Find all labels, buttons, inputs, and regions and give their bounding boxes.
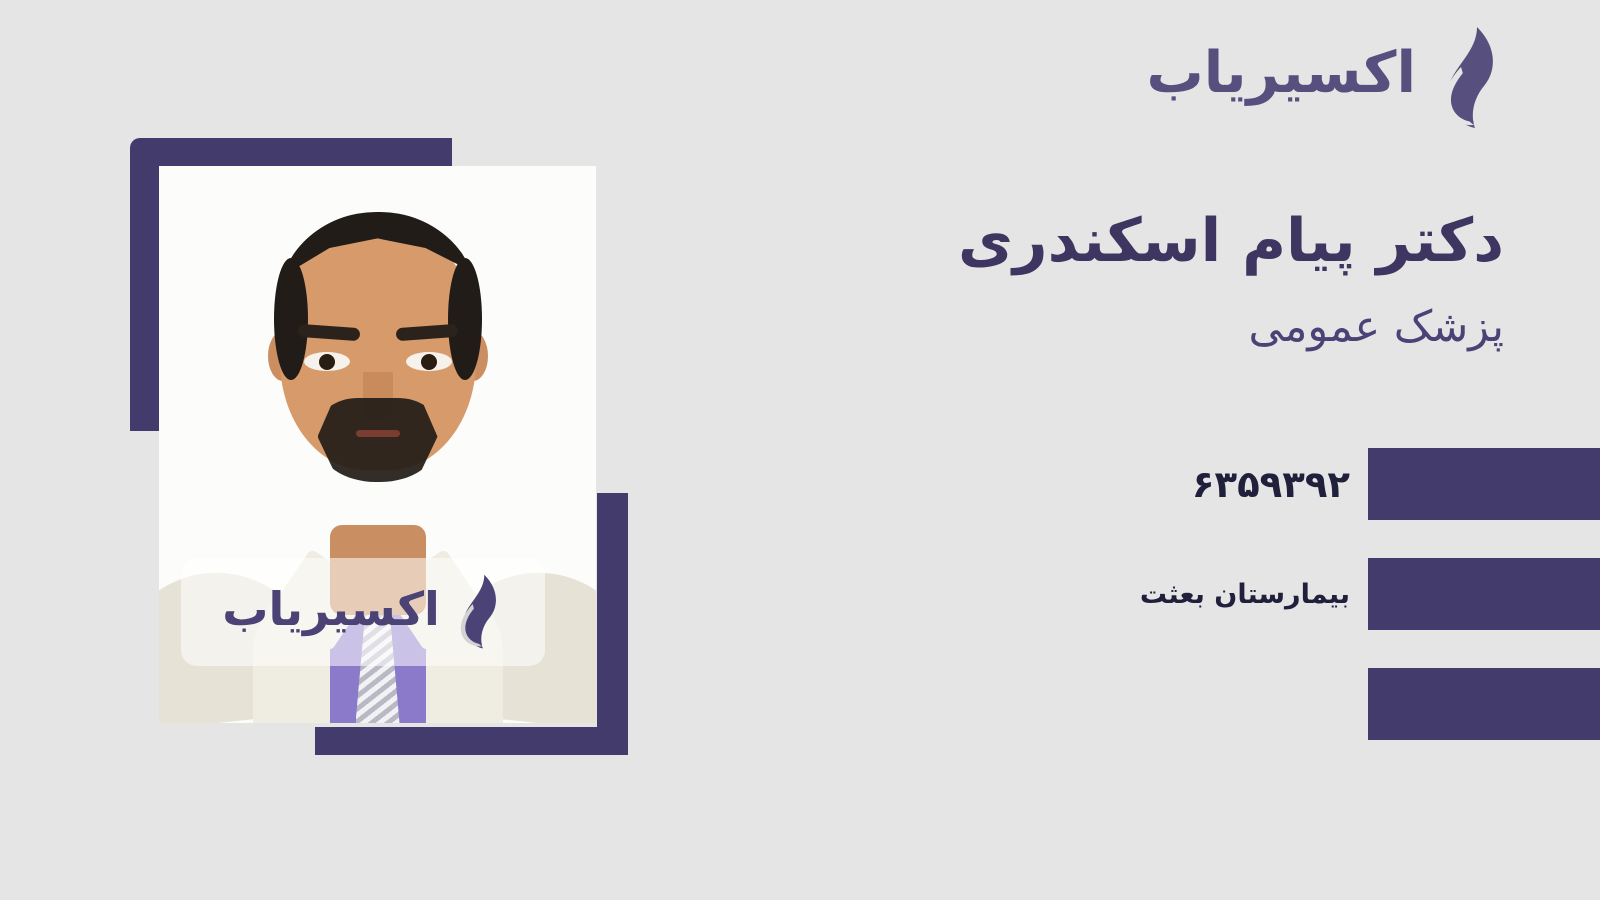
meta-row-phone: ۶۳۵۹۳۹۲ bbox=[0, 448, 1600, 520]
accent-bar-3 bbox=[1368, 668, 1600, 740]
meta-row-hospital: بیمارستان بعثت bbox=[0, 558, 1600, 630]
doctor-name: دکتر پیام اسکندری bbox=[784, 205, 1504, 278]
accent-bar-2 bbox=[1368, 558, 1600, 630]
doctor-meta-rows: ۶۳۵۹۳۹۲ بیمارستان بعثت bbox=[0, 440, 1600, 760]
doctor-hospital: بیمارستان بعثت bbox=[1140, 558, 1350, 630]
doctor-specialty: پزشک عمومی bbox=[784, 300, 1504, 356]
doctor-info: دکتر پیام اسکندری پزشک عمومی bbox=[784, 205, 1504, 356]
brand-name: اکسیریاب bbox=[1147, 45, 1417, 112]
profile-card: اکسیریاب bbox=[0, 0, 1600, 900]
meta-row-decorative bbox=[0, 668, 1600, 740]
doctor-phone: ۶۳۵۹۳۹۲ bbox=[1192, 448, 1350, 520]
accent-bar-1 bbox=[1368, 448, 1600, 520]
brand-logo[interactable]: اکسیریاب bbox=[1147, 26, 1505, 130]
flame-drop-icon bbox=[1430, 26, 1504, 130]
